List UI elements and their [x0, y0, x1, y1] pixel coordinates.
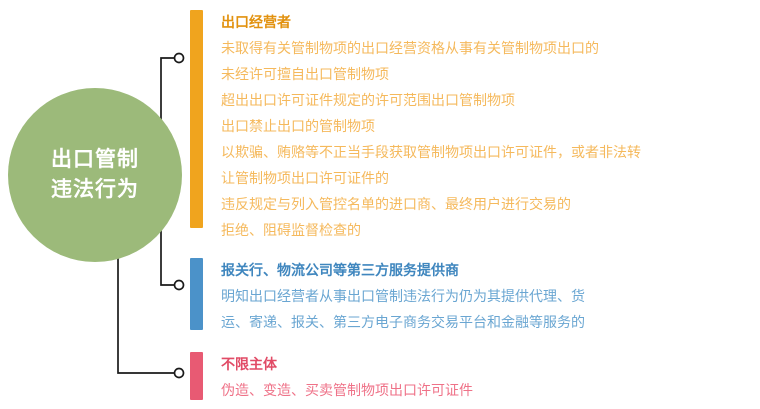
center-node-line-2: 违法行为 [51, 175, 139, 205]
branch-thirdparty-item: 运、寄递、报关、第三方电子商务交易平台和金融等服务的 [221, 309, 585, 335]
diagram-canvas: 出口管制 违法行为 出口经营者 未取得有关管制物项的出口经营资格从事有关管制物项… [0, 0, 760, 409]
connector-endpoint-thirdparty [175, 281, 184, 290]
branch-exporter-item: 违反规定与列入管控名单的进口商、最终用户进行交易的 [221, 191, 641, 217]
branch-thirdparty-heading: 报关行、物流公司等第三方服务提供商 [221, 258, 585, 283]
connector-endpoint-any [175, 369, 184, 378]
branch-exporter-item: 超出出口许可证件规定的许可范围出口管制物项 [221, 87, 641, 113]
branch-exporter-text: 出口经营者 未取得有关管制物项的出口经营资格从事有关管制物项出口的 未经许可擅自… [221, 10, 641, 228]
branch-thirdparty-text: 报关行、物流公司等第三方服务提供商 明知出口经营者从事出口管制违法行为仍为其提供… [221, 258, 585, 330]
branch-thirdparty-item: 明知出口经营者从事出口管制违法行为仍为其提供代理、货 [221, 283, 585, 309]
branch-exporter-color-bar [190, 10, 203, 228]
branch-thirdparty-color-bar [190, 258, 203, 330]
branch-any-color-bar [190, 352, 203, 400]
branch-any-item: 伪造、变造、买卖管制物项出口许可证件 [221, 377, 473, 403]
center-node[interactable]: 出口管制 违法行为 [8, 88, 182, 262]
branch-exporter-item: 未取得有关管制物项的出口经营资格从事有关管制物项出口的 [221, 35, 641, 61]
branch-exporter[interactable]: 出口经营者 未取得有关管制物项的出口经营资格从事有关管制物项出口的 未经许可擅自… [190, 10, 641, 228]
branch-any[interactable]: 不限主体 伪造、变造、买卖管制物项出口许可证件 [190, 352, 473, 400]
branch-thirdparty[interactable]: 报关行、物流公司等第三方服务提供商 明知出口经营者从事出口管制违法行为仍为其提供… [190, 258, 585, 330]
branch-exporter-item: 以欺骗、贿赂等不正当手段获取管制物项出口许可证件，或者非法转 [221, 139, 641, 165]
branch-exporter-item: 让管制物项出口许可证件的 [221, 165, 641, 191]
branch-any-heading: 不限主体 [221, 352, 473, 377]
center-node-line-1: 出口管制 [51, 145, 139, 175]
branch-exporter-heading: 出口经营者 [221, 10, 641, 35]
branch-exporter-item: 拒绝、阻碍监督检查的 [221, 217, 641, 243]
branch-any-text: 不限主体 伪造、变造、买卖管制物项出口许可证件 [221, 352, 473, 400]
branch-exporter-item: 出口禁止出口的管制物项 [221, 113, 641, 139]
branch-exporter-item: 未经许可擅自出口管制物项 [221, 61, 641, 87]
connector-endpoint-exporter [175, 54, 184, 63]
